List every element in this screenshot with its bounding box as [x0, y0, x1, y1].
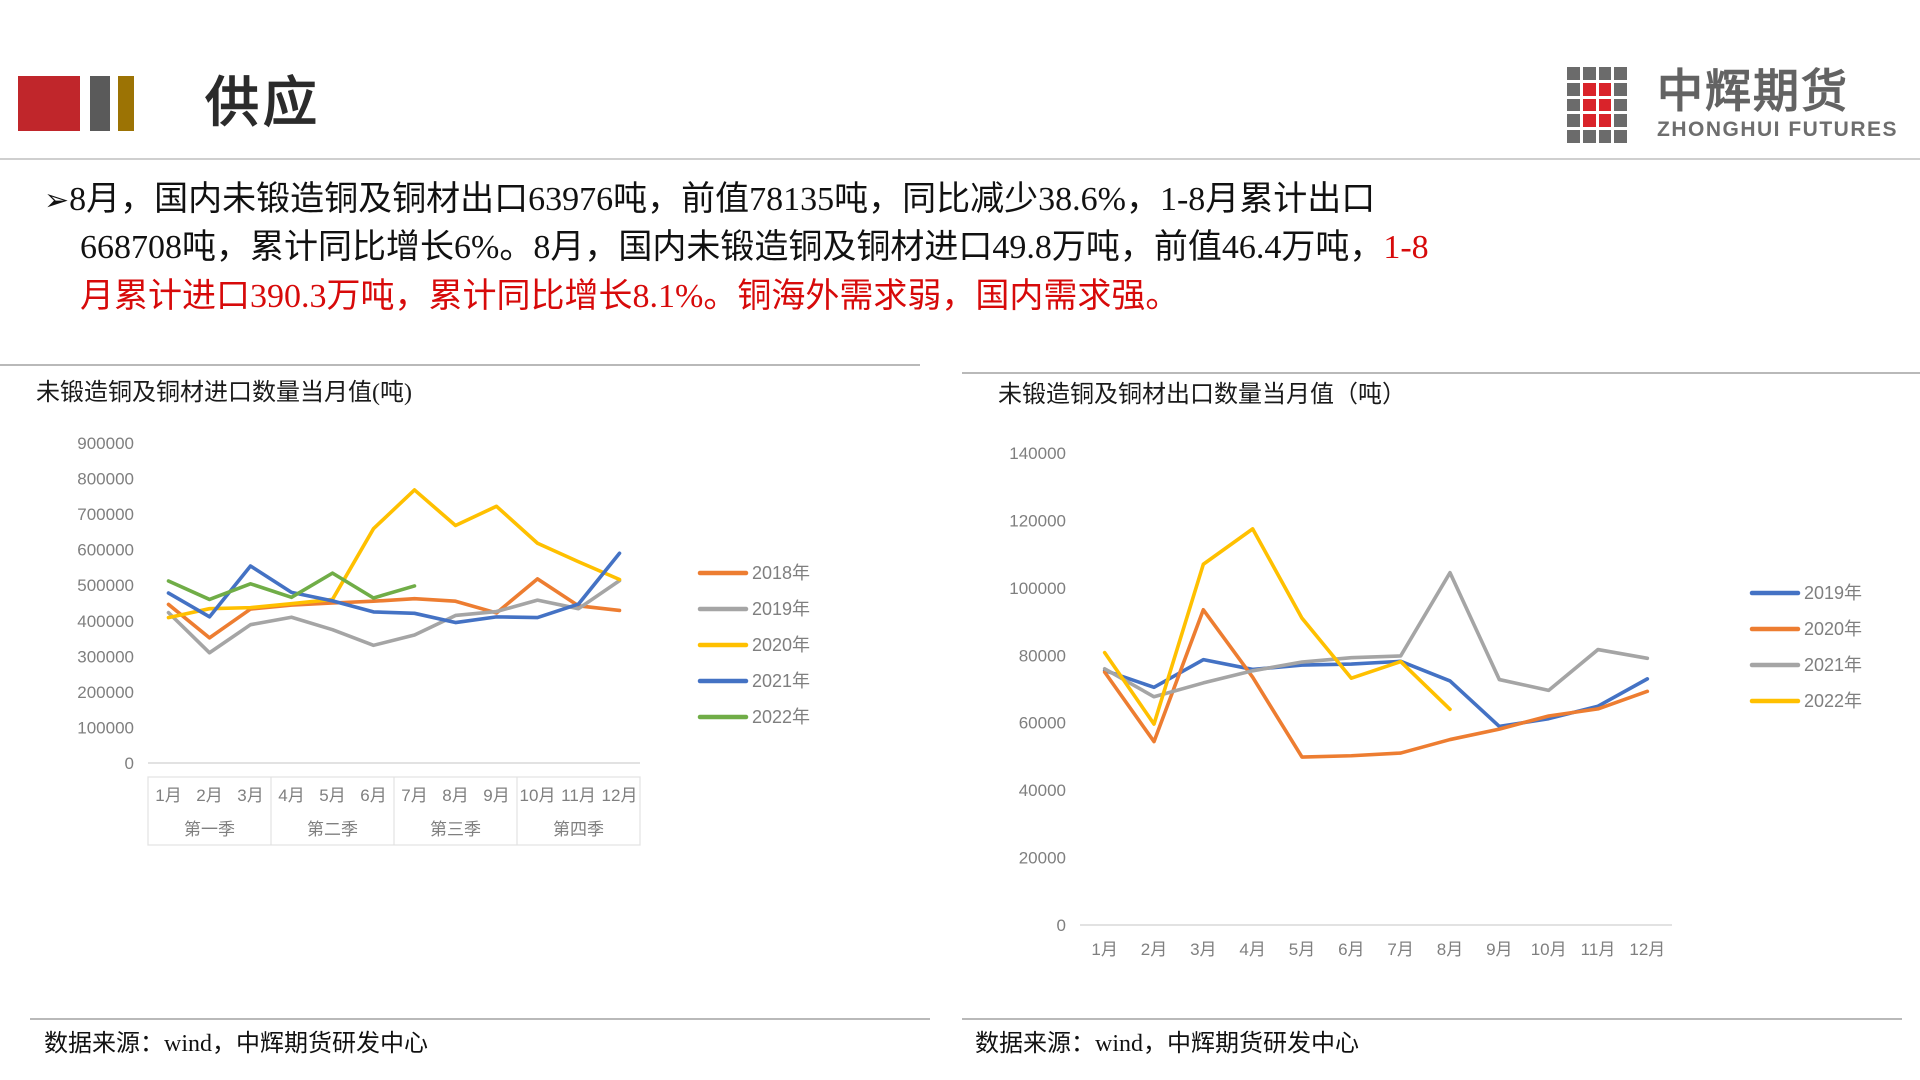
import-chart-title: 未锻造铜及铜材进口数量当月值(吨)	[0, 372, 950, 413]
paragraph-line-1-text: 8月，国内未锻造铜及铜材出口63976吨，前值78135吨，同比减少38.6%，…	[69, 181, 1375, 218]
svg-text:7月: 7月	[1387, 940, 1413, 959]
export-legend-label-2021年: 2021年	[1804, 655, 1862, 675]
export-chart-svg[interactable]: 0200004000060000800001000001200001400001…	[962, 415, 1920, 1035]
svg-text:12月: 12月	[602, 786, 638, 805]
svg-text:5月: 5月	[1289, 940, 1315, 959]
paragraph-line-3: 月累计进口390.3万吨，累计同比增长8.1%。铜海外需求弱，国内需求强。	[44, 273, 1884, 321]
page-header: 供应 中辉期货 ZHONGHUI FUTURES	[0, 0, 1920, 160]
svg-text:0: 0	[1057, 916, 1066, 935]
export-source-divider	[962, 1018, 1902, 1020]
svg-text:60000: 60000	[1019, 714, 1066, 733]
svg-text:11月: 11月	[561, 786, 596, 805]
svg-text:200000: 200000	[77, 683, 134, 702]
paragraph-line-2: 668708吨，累计同比增长6%。8月，国内未锻造铜及铜材进口49.8万吨，前值…	[44, 224, 1884, 272]
svg-text:第一季: 第一季	[184, 820, 235, 839]
import-legend-label-2021年: 2021年	[752, 671, 810, 691]
svg-text:第四季: 第四季	[553, 820, 604, 839]
header-divider	[0, 158, 1920, 160]
svg-text:400000: 400000	[77, 612, 134, 631]
svg-text:900000: 900000	[77, 434, 134, 453]
export-series-2020年	[1105, 610, 1648, 757]
svg-text:3月: 3月	[237, 786, 263, 805]
svg-text:800000: 800000	[77, 470, 134, 489]
svg-text:9月: 9月	[483, 786, 509, 805]
svg-text:8月: 8月	[1437, 940, 1463, 959]
company-logo: 中辉期货 ZHONGHUI FUTURES	[1567, 62, 1898, 148]
svg-text:600000: 600000	[77, 541, 134, 560]
svg-text:5月: 5月	[319, 786, 345, 805]
svg-text:500000: 500000	[77, 576, 134, 595]
svg-text:20000: 20000	[1019, 849, 1066, 868]
import-source-divider	[30, 1018, 930, 1020]
export-legend-label-2020年: 2020年	[1804, 619, 1862, 639]
svg-text:40000: 40000	[1019, 781, 1066, 800]
export-source-text: 数据来源：wind，中辉期货研发中心	[975, 1023, 1359, 1058]
import-legend-label-2019年: 2019年	[752, 599, 810, 619]
svg-text:4月: 4月	[1239, 940, 1265, 959]
import-chart-svg[interactable]: 0100000200000300000400000500000600000700…	[0, 413, 950, 1013]
logo-english-name: ZHONGHUI FUTURES	[1657, 118, 1898, 142]
svg-text:2月: 2月	[1141, 940, 1167, 959]
import-legend-label-2020年: 2020年	[752, 635, 810, 655]
export-chart-title: 未锻造铜及铜材出口数量当月值（吨）	[962, 374, 1920, 415]
svg-text:100000: 100000	[1009, 579, 1066, 598]
header-accent-bar-red	[18, 76, 80, 131]
import-panel-top-divider	[0, 364, 920, 366]
svg-text:140000: 140000	[1009, 444, 1066, 463]
import-source-text: 数据来源：wind，中辉期货研发中心	[44, 1023, 428, 1058]
svg-text:4月: 4月	[278, 786, 304, 805]
svg-text:6月: 6月	[360, 786, 386, 805]
svg-text:7月: 7月	[401, 786, 427, 805]
svg-text:9月: 9月	[1486, 940, 1512, 959]
page-title: 供应	[205, 58, 321, 137]
header-accent-bar-gold	[118, 76, 134, 131]
svg-text:6月: 6月	[1338, 940, 1364, 959]
import-chart-box: 0100000200000300000400000500000600000700…	[0, 413, 950, 1013]
header-accent-bar-gray	[90, 76, 110, 131]
paragraph-line-1: ➢8月，国内未锻造铜及铜材出口63976吨，前值78135吨，同比减少38.6%…	[44, 176, 1884, 224]
svg-text:3月: 3月	[1190, 940, 1216, 959]
svg-text:10月: 10月	[520, 786, 556, 805]
export-legend-label-2019年: 2019年	[1804, 583, 1862, 603]
logo-grid-icon	[1567, 67, 1643, 143]
svg-text:10月: 10月	[1531, 940, 1567, 959]
export-panel: 未锻造铜及铜材出口数量当月值（吨） 0200004000060000800001…	[962, 372, 1920, 1035]
svg-text:8月: 8月	[442, 786, 468, 805]
svg-text:80000: 80000	[1019, 646, 1066, 665]
summary-paragraph: ➢8月，国内未锻造铜及铜材出口63976吨，前值78135吨，同比减少38.6%…	[44, 176, 1884, 321]
svg-text:第三季: 第三季	[430, 820, 481, 839]
svg-text:0: 0	[125, 754, 134, 773]
svg-text:700000: 700000	[77, 505, 134, 524]
svg-text:11月: 11月	[1581, 940, 1616, 959]
export-series-2021年	[1105, 573, 1648, 697]
export-legend-label-2022年: 2022年	[1804, 691, 1862, 711]
svg-text:12月: 12月	[1629, 940, 1665, 959]
import-legend-label-2018年: 2018年	[752, 563, 810, 583]
svg-text:120000: 120000	[1009, 511, 1066, 530]
svg-text:300000: 300000	[77, 647, 134, 666]
svg-text:2月: 2月	[196, 786, 222, 805]
import-series-2022年	[169, 573, 415, 599]
import-panel: 未锻造铜及铜材进口数量当月值(吨) 0100000200000300000400…	[0, 372, 950, 1013]
export-chart-box: 0200004000060000800001000001200001400001…	[962, 415, 1920, 1035]
paragraph-line-2-highlight: 1-8	[1383, 229, 1428, 266]
logo-chinese-name: 中辉期货	[1657, 69, 1898, 115]
bullet-arrow-icon: ➢	[44, 184, 69, 217]
paragraph-line-2-text: 668708吨，累计同比增长6%。8月，国内未锻造铜及铜材进口49.8万吨，前值…	[80, 229, 1383, 266]
import-legend-label-2022年: 2022年	[752, 707, 810, 727]
svg-text:100000: 100000	[77, 718, 134, 737]
svg-text:第二季: 第二季	[307, 820, 358, 839]
svg-text:1月: 1月	[155, 786, 181, 805]
svg-text:1月: 1月	[1091, 940, 1117, 959]
